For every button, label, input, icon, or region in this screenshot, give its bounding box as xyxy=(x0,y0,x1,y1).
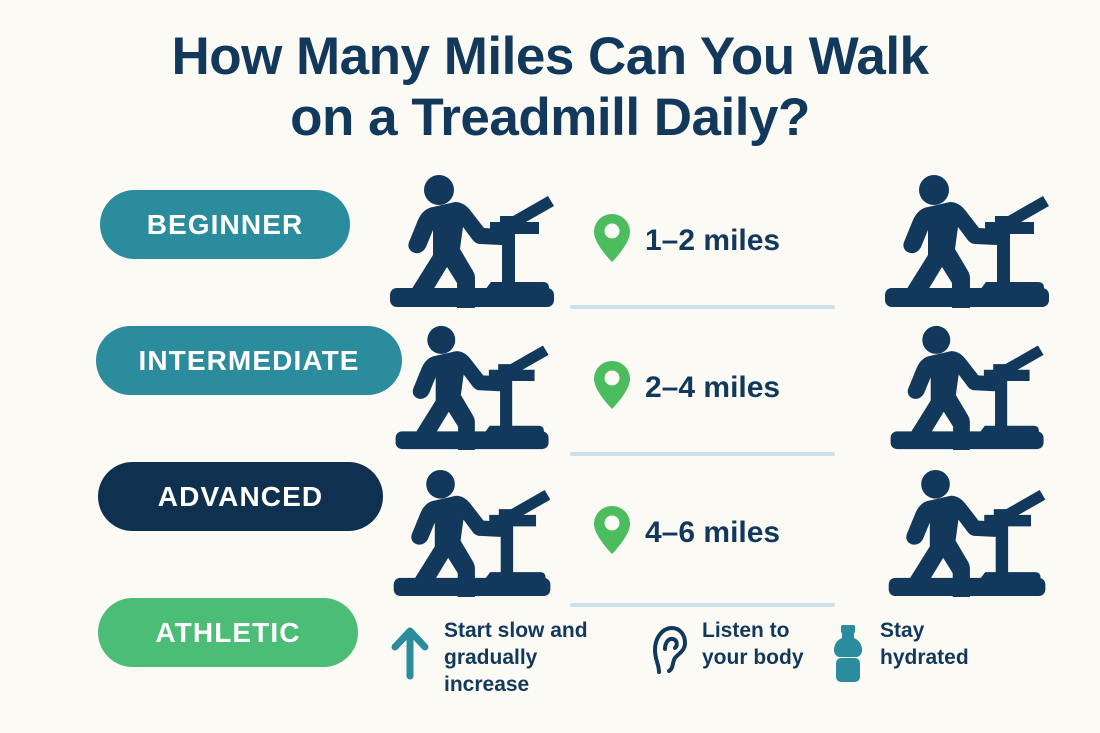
treadmill-icon-right-row-0 xyxy=(865,174,1070,308)
level-pill-advanced[interactable]: ADVANCED xyxy=(98,462,383,531)
miles-cell-row-1: 2–4 miles xyxy=(575,359,865,416)
miles-cell-row-0: 1–2 miles xyxy=(575,212,865,269)
miles-cell-row-2: 4–6 miles xyxy=(575,504,865,561)
treadmill-icon-right-row-1 xyxy=(865,325,1070,450)
row-divider-3 xyxy=(570,603,835,607)
treadmill-icon-left-row-0 xyxy=(370,174,575,308)
miles-label-row-1: 2–4 miles xyxy=(645,371,780,405)
tip-start-slow-label: Start slow and gradually increase xyxy=(444,618,599,699)
tips-row: Start slow and gradually increase Listen… xyxy=(390,618,1090,699)
tip-stay-hydrated: Stay hydrated xyxy=(830,618,1030,684)
row-divider-2 xyxy=(570,452,835,456)
page-title: How Many Miles Can You Walk on a Treadmi… xyxy=(0,26,1100,149)
up-arrow-icon xyxy=(390,624,430,680)
level-pill-athletic-label: ATHLETIC xyxy=(155,617,300,649)
treadmill-icon-left-row-2 xyxy=(370,469,575,597)
level-row-intermediate: 2–4 miles xyxy=(370,315,1070,460)
tip-listen-body: Listen to your body xyxy=(650,618,830,678)
treadmill-icon-left-row-1 xyxy=(370,325,575,450)
level-pill-intermediate-label: INTERMEDIATE xyxy=(138,345,359,377)
level-pill-advanced-label: ADVANCED xyxy=(158,481,323,513)
title-line-1: How Many Miles Can You Walk xyxy=(0,26,1100,87)
levels-column: BEGINNER INTERMEDIATE ADVANCED ATHLETIC xyxy=(0,190,410,667)
level-row-beginner: 1–2 miles xyxy=(370,168,1070,313)
map-pin-icon-row-2 xyxy=(593,504,631,561)
tip-stay-hydrated-label: Stay hydrated xyxy=(880,618,995,672)
tip-start-slow: Start slow and gradually increase xyxy=(390,618,650,699)
level-pill-athletic[interactable]: ATHLETIC xyxy=(98,598,358,667)
miles-label-row-0: 1–2 miles xyxy=(645,224,780,258)
row-divider-1 xyxy=(570,305,835,309)
miles-label-row-2: 4–6 miles xyxy=(645,516,780,550)
title-line-2: on a Treadmill Daily? xyxy=(0,87,1100,148)
ear-icon xyxy=(650,624,688,678)
level-pill-beginner[interactable]: BEGINNER xyxy=(100,190,350,259)
level-row-advanced: 4–6 miles xyxy=(370,460,1070,605)
level-pill-intermediate[interactable]: INTERMEDIATE xyxy=(96,326,402,395)
map-pin-icon-row-0 xyxy=(593,212,631,269)
water-bottle-icon xyxy=(830,624,866,684)
treadmill-icon-right-row-2 xyxy=(865,469,1070,597)
level-pill-beginner-label: BEGINNER xyxy=(147,209,304,241)
tip-listen-body-label: Listen to your body xyxy=(702,618,817,672)
map-pin-icon-row-1 xyxy=(593,359,631,416)
